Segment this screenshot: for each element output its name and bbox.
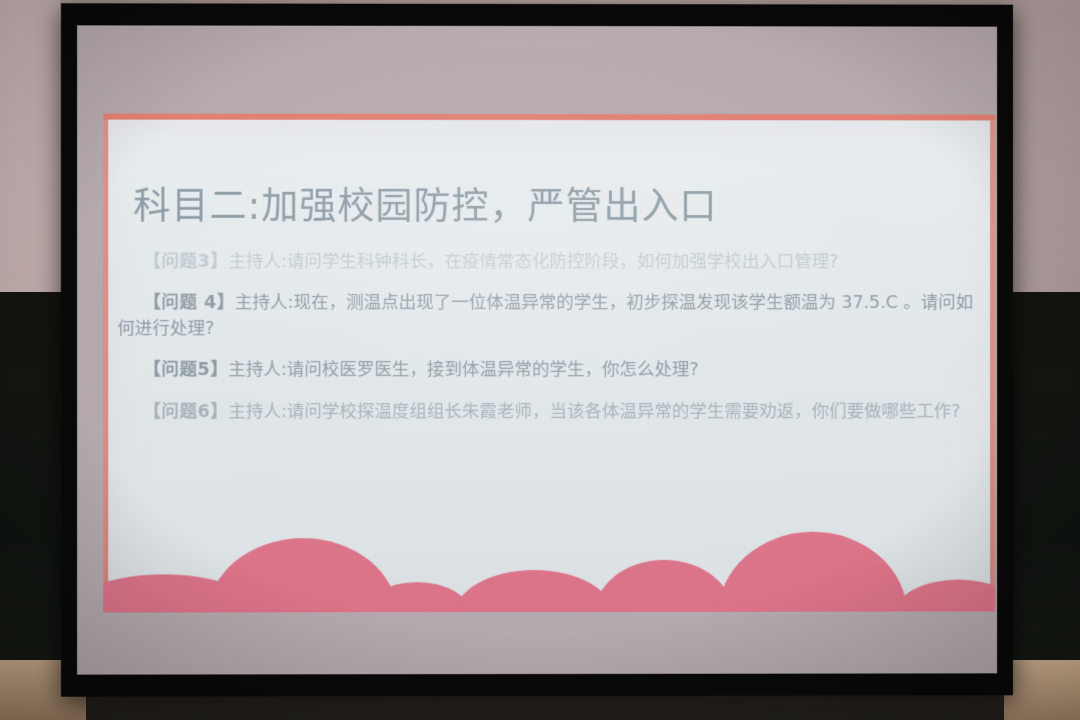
question-text: 请问学生科钟科长，在疫情常态化防控阶段，如何加强学校出入口管理? — [287, 252, 839, 272]
question-speaker: 主持人: — [228, 402, 287, 422]
classroom-scene: 科目二:加强校园防控，严管出入口 【问题3】主持人:请问学生科钟科长，在疫情常态… — [0, 0, 1080, 720]
question-speaker: 主持人: — [228, 252, 287, 272]
scallop-bump — [718, 532, 908, 613]
bottom-scallop-decoration — [103, 522, 995, 613]
question-tag: 【问题5】 — [143, 360, 228, 380]
question-item: 【问题3】主持人:请问学生科钟科长，在疫情常态化防控阶段，如何加强学校出入口管理… — [117, 250, 989, 276]
question-tag: 【问题6】 — [143, 402, 228, 422]
question-text: 请问校医罗医生，接到体温异常的学生，你怎么处理? — [287, 360, 699, 380]
slide-body: 【问题3】主持人:请问学生科钟科长，在疫情常态化防控阶段，如何加强学校出入口管理… — [117, 250, 989, 441]
question-text: 请问学校探温度组组长朱霞老师，当该各体温异常的学生需要劝返，你们要做哪些工作? — [287, 401, 961, 421]
question-item: 【问题5】主持人:请问校医罗医生，接到体温异常的学生，你怎么处理? — [117, 358, 989, 383]
projection-screen-surface: 科目二:加强校园防控，严管出入口 【问题3】主持人:请问学生科钟科长，在疫情常态… — [77, 25, 997, 674]
presentation-slide: 科目二:加强校园防控，严管出入口 【问题3】主持人:请问学生科钟科长，在疫情常态… — [103, 114, 995, 613]
scallop-bump — [893, 580, 995, 613]
wall-left-panel — [0, 0, 60, 300]
question-tag: 【问题 4】 — [143, 293, 235, 313]
scallop-bump — [454, 570, 614, 613]
projection-screen-frame: 科目二:加强校园防控，严管出入口 【问题3】主持人:请问学生科钟科长，在疫情常态… — [61, 3, 1013, 696]
wall-trim-right — [1004, 660, 1080, 720]
slide-title: 科目二:加强校园防控，严管出入口 — [133, 176, 717, 230]
question-tag: 【问题3】 — [143, 252, 228, 272]
question-item: 【问题6】主持人:请问学校探温度组组长朱霞老师，当该各体温异常的学生需要劝返，你… — [117, 399, 989, 425]
scallop-bump — [594, 560, 734, 613]
question-speaker: 主持人: — [235, 293, 294, 313]
question-speaker: 主持人: — [228, 360, 287, 380]
question-item: 【问题 4】主持人:现在，测温点出现了一位体温异常的学生，初步探温发现该学生额温… — [117, 291, 989, 342]
